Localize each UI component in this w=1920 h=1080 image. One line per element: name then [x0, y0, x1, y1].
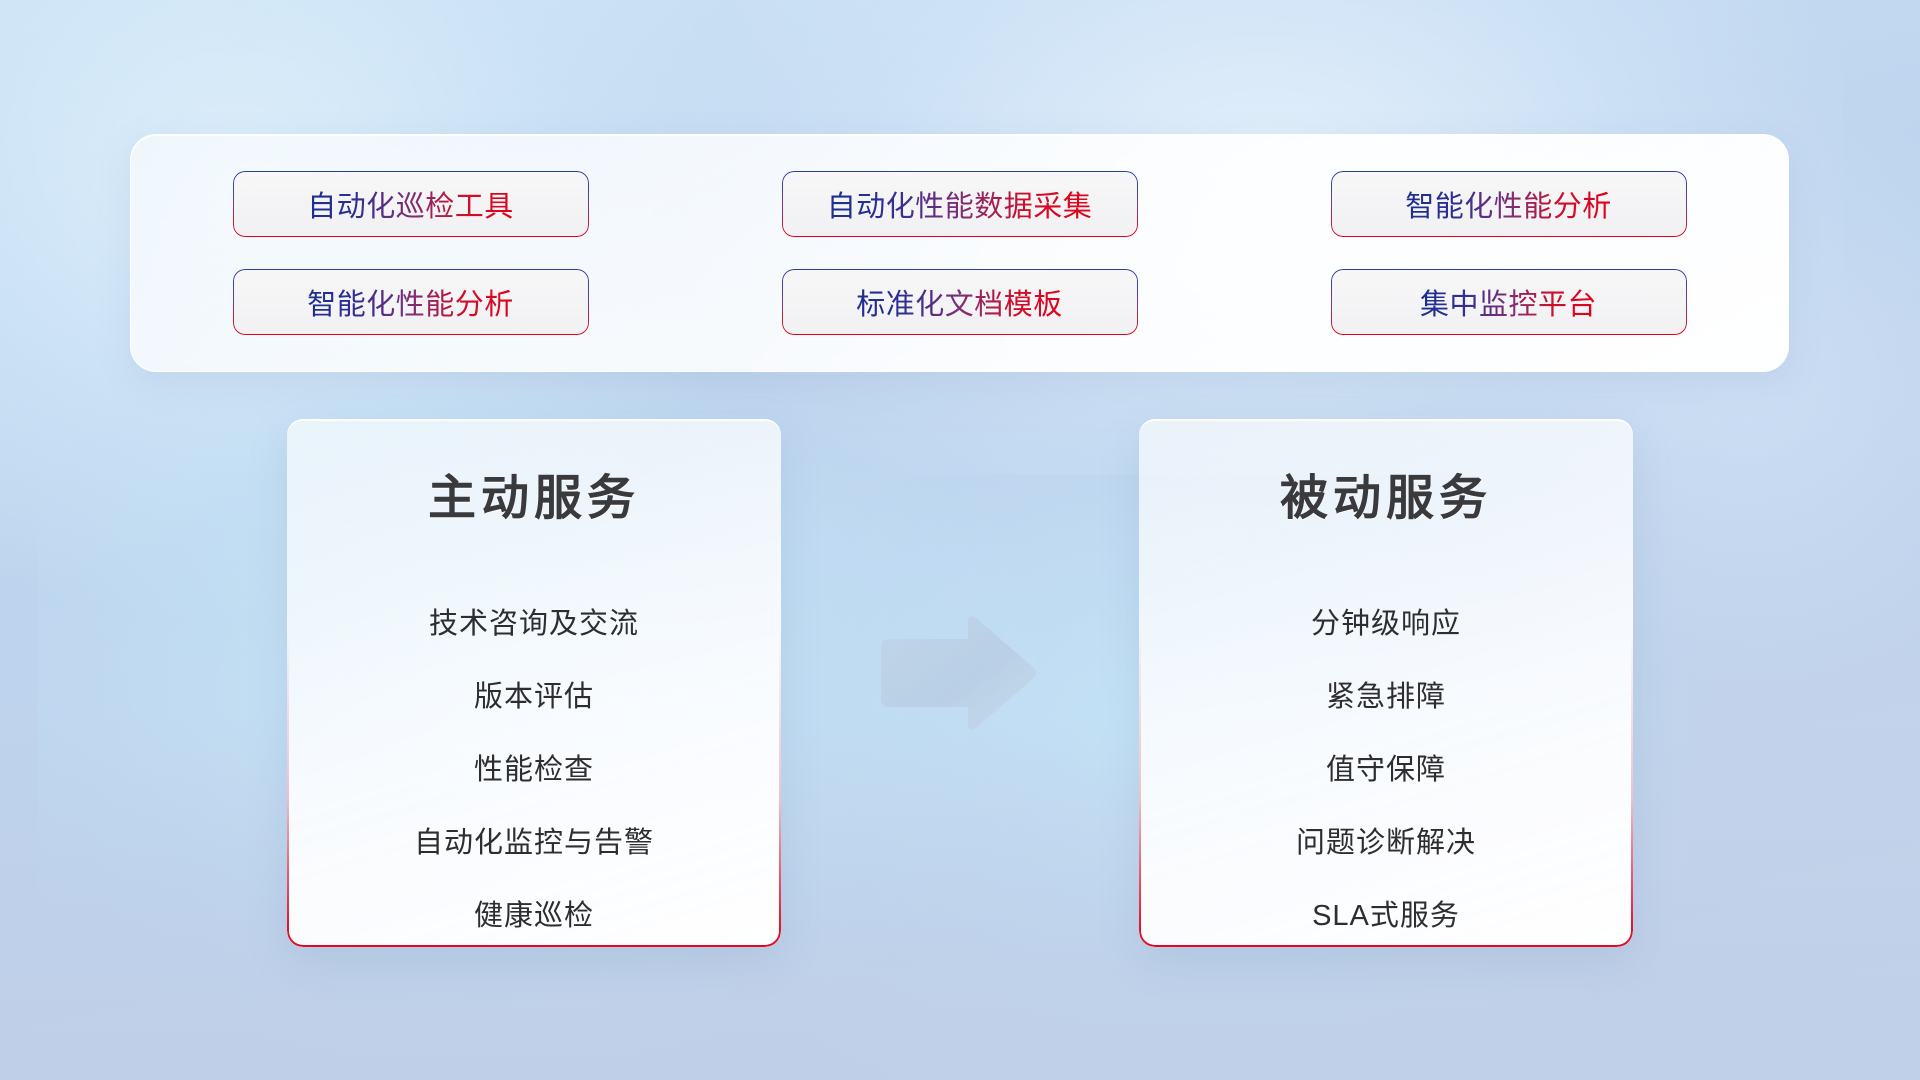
service-card-list: 分钟级响应 紧急排障 值守保障 问题诊断解决 SLA式服务 — [1139, 584, 1633, 947]
list-item[interactable]: 性能检查 — [474, 730, 594, 803]
capability-pill-surface: 自动化巡检工具 — [234, 172, 588, 236]
list-item[interactable]: 版本评估 — [474, 657, 594, 730]
capability-pill-surface: 智能化性能分析 — [234, 270, 588, 334]
capability-pill[interactable]: 智能化性能分析 — [1331, 171, 1687, 237]
capability-pill-surface: 自动化性能数据采集 — [783, 172, 1137, 236]
list-item[interactable]: 分钟级响应 — [1311, 584, 1461, 657]
service-card-title: 被动服务 — [1280, 458, 1492, 528]
list-item[interactable]: 技术咨询及交流 — [429, 584, 639, 657]
list-item[interactable]: SLA式服务 — [1312, 876, 1460, 947]
capability-pill-surface: 智能化性能分析 — [1332, 172, 1686, 236]
capability-pill-label: 标准化文档模板 — [856, 281, 1063, 323]
capability-pill-label: 智能化性能分析 — [307, 281, 514, 323]
list-item[interactable]: 紧急排障 — [1326, 657, 1446, 730]
capability-pill-label: 自动化性能数据采集 — [827, 183, 1093, 225]
list-item[interactable]: 自动化监控与告警 — [414, 803, 654, 876]
service-card-reactive: 被动服务 分钟级响应 紧急排障 值守保障 问题诊断解决 SLA式服务 — [1139, 419, 1633, 947]
list-item[interactable]: 健康巡检 — [474, 876, 594, 947]
capability-pill-label: 智能化性能分析 — [1405, 183, 1612, 225]
capability-pill-label: 集中监控平台 — [1420, 281, 1597, 323]
list-item[interactable]: 值守保障 — [1326, 730, 1446, 803]
capability-pill-surface: 标准化文档模板 — [783, 270, 1137, 334]
capabilities-pill-grid: 自动化巡检工具 自动化性能数据采集 智能化性能分析 智能化性能分析 标准化文档模… — [131, 135, 1788, 371]
capability-pill[interactable]: 集中监控平台 — [1331, 269, 1687, 335]
arrow-right-icon — [873, 613, 1038, 733]
capability-pill-surface: 集中监控平台 — [1332, 270, 1686, 334]
service-card-title: 主动服务 — [428, 458, 640, 528]
list-item[interactable]: 问题诊断解决 — [1296, 803, 1476, 876]
capability-pill[interactable]: 自动化性能数据采集 — [782, 171, 1138, 237]
capabilities-panel: 自动化巡检工具 自动化性能数据采集 智能化性能分析 智能化性能分析 标准化文档模… — [130, 134, 1789, 372]
capability-pill[interactable]: 标准化文档模板 — [782, 269, 1138, 335]
service-card-proactive: 主动服务 技术咨询及交流 版本评估 性能检查 自动化监控与告警 健康巡检 — [287, 419, 781, 947]
capability-pill[interactable]: 自动化巡检工具 — [233, 171, 589, 237]
service-card-list: 技术咨询及交流 版本评估 性能检查 自动化监控与告警 健康巡检 — [287, 584, 781, 947]
capability-pill[interactable]: 智能化性能分析 — [233, 269, 589, 335]
capability-pill-label: 自动化巡检工具 — [307, 183, 514, 225]
